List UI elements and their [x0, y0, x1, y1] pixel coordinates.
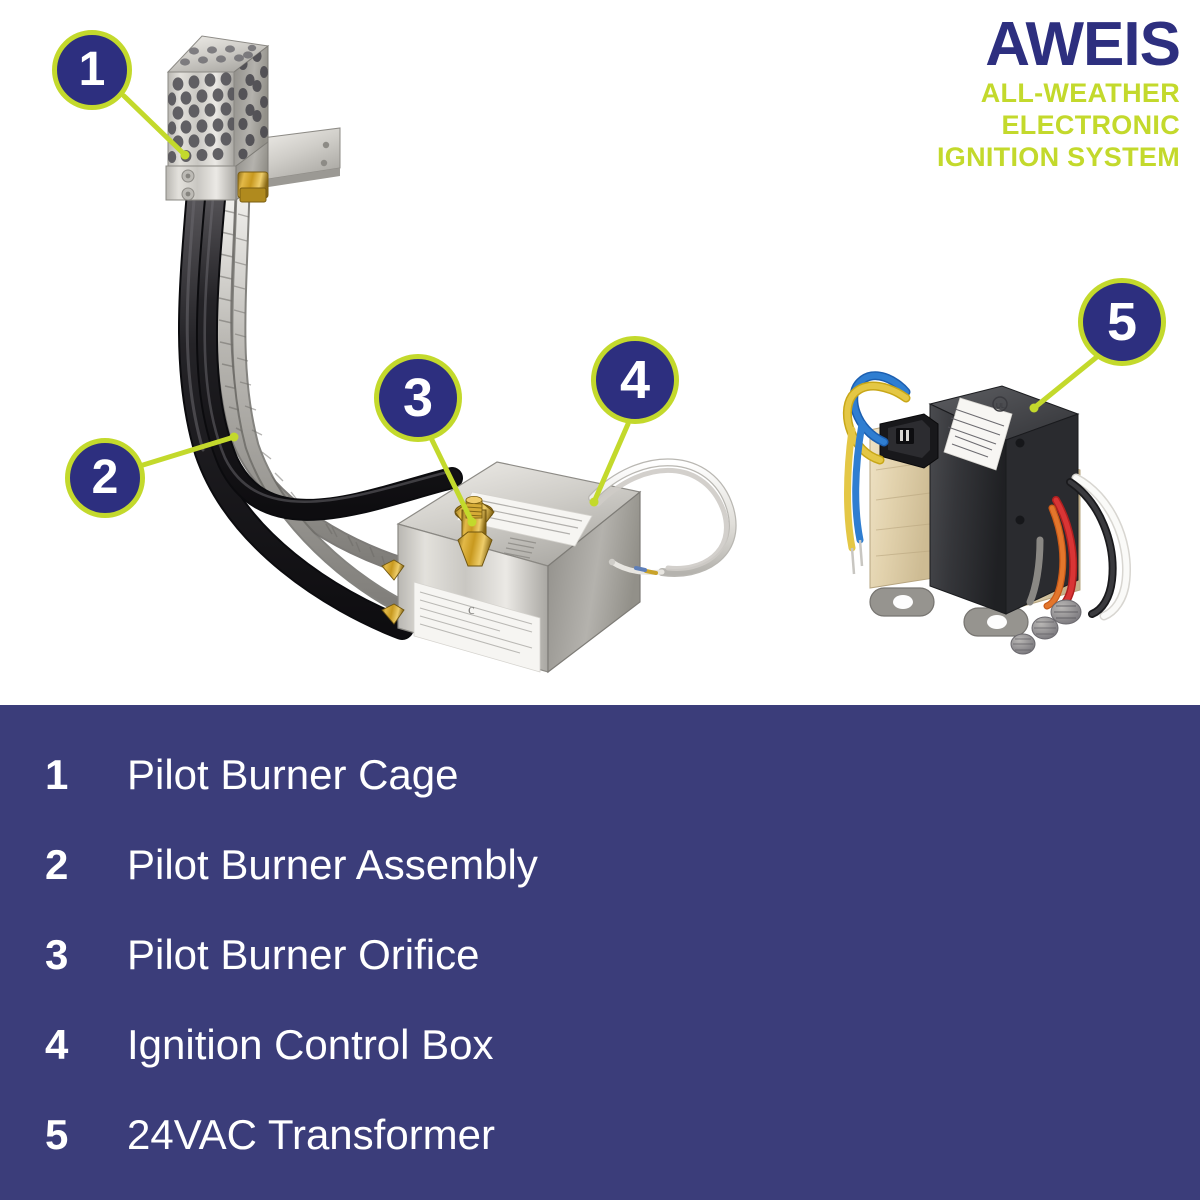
callout-badge-1-number: 1 — [79, 46, 106, 94]
svg-text:c: c — [468, 602, 475, 618]
callout-badge-3[interactable]: 3 — [374, 354, 462, 442]
legend-item-1-label: Pilot Burner Cage — [127, 753, 459, 797]
legend-item-3-number: 3 — [45, 933, 127, 977]
legend-item-4-label: Ignition Control Box — [127, 1023, 494, 1067]
svg-text:UL: UL — [996, 403, 1005, 410]
callout-badge-5-number: 5 — [1107, 295, 1137, 349]
product-diagram-page: AWEIS ALL-WEATHER ELECTRONIC IGNITION SY… — [0, 0, 1200, 1200]
legend-item-3: 3 Pilot Burner Orifice — [45, 933, 479, 977]
callout-badge-4-number: 4 — [620, 353, 650, 407]
callout-badge-2-number: 2 — [92, 454, 119, 502]
legend-item-5: 5 24VAC Transformer — [45, 1113, 495, 1157]
callout-badge-1[interactable]: 1 — [52, 30, 132, 110]
legend-item-5-number: 5 — [45, 1113, 127, 1157]
legend-item-3-label: Pilot Burner Orifice — [127, 933, 479, 977]
legend-item-2-number: 2 — [45, 843, 127, 887]
legend-item-4-number: 4 — [45, 1023, 127, 1067]
legend-item-5-label: 24VAC Transformer — [127, 1113, 495, 1157]
callout-badge-3-number: 3 — [403, 371, 433, 425]
legend-panel: 1 Pilot Burner Cage 2 Pilot Burner Assem… — [0, 705, 1200, 1200]
legend-item-1: 1 Pilot Burner Cage — [45, 753, 459, 797]
legend-item-2: 2 Pilot Burner Assembly — [45, 843, 538, 887]
legend-item-2-label: Pilot Burner Assembly — [127, 843, 538, 887]
product-photo-stage: AWEIS ALL-WEATHER ELECTRONIC IGNITION SY… — [0, 0, 1200, 705]
callout-badge-5[interactable]: 5 — [1078, 278, 1166, 366]
callout-badge-4[interactable]: 4 — [591, 336, 679, 424]
callout-badge-2[interactable]: 2 — [65, 438, 145, 518]
legend-item-1-number: 1 — [45, 753, 127, 797]
legend-item-4: 4 Ignition Control Box — [45, 1023, 494, 1067]
